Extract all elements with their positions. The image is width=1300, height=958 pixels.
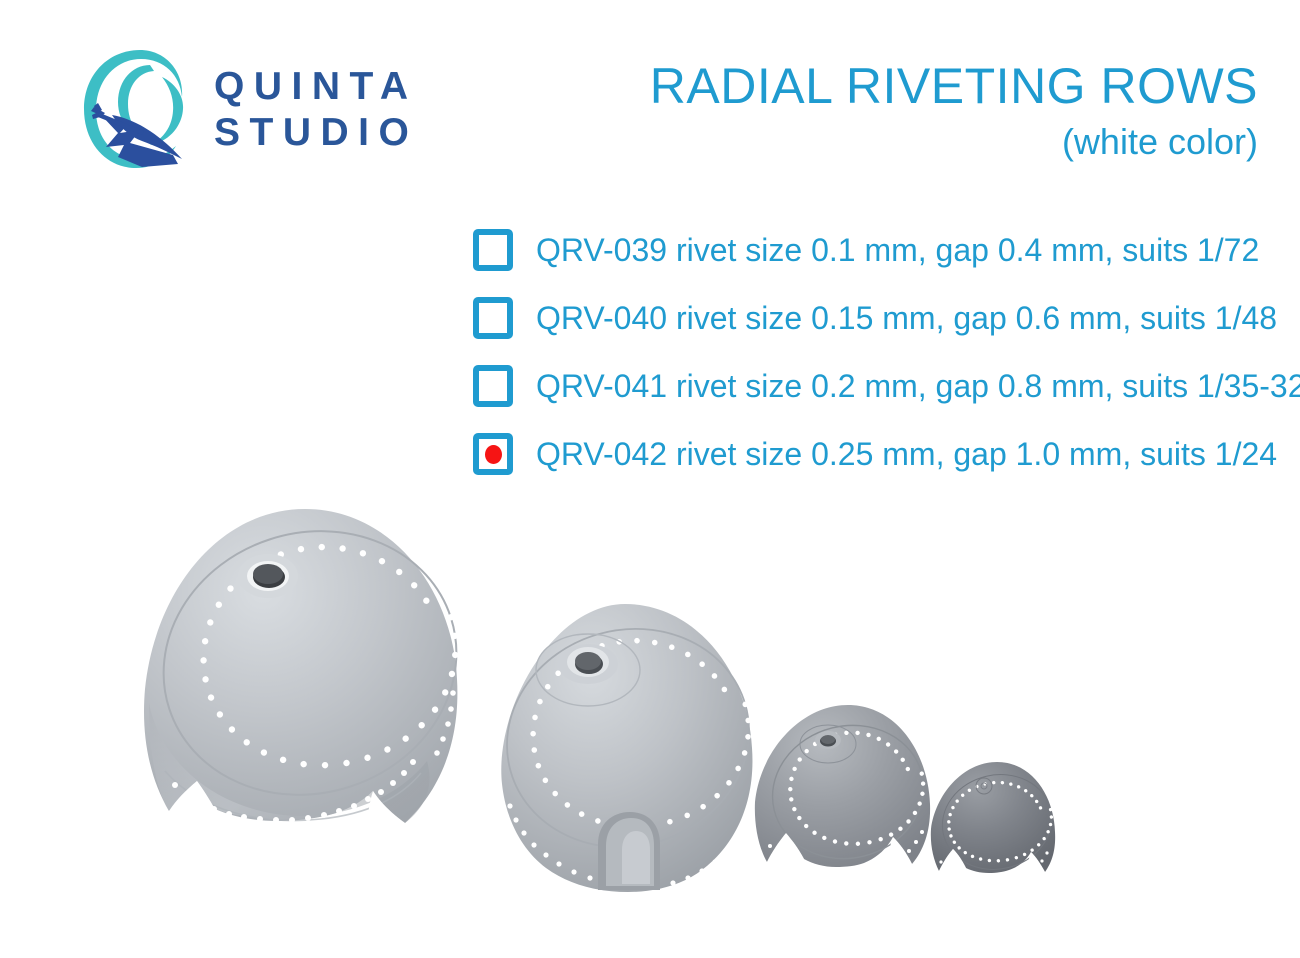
page-subtitle: (white color) <box>650 121 1258 162</box>
variant-list: QRV-039 rivet size 0.1 mm, gap 0.4 mm, s… <box>473 216 1283 488</box>
variant-checkbox-qrv-040[interactable] <box>473 297 513 339</box>
variant-label-qrv-039: QRV-039 rivet size 0.1 mm, gap 0.4 mm, s… <box>536 234 1259 266</box>
brand-name-line-2: STUDIO <box>214 110 418 156</box>
quinta-q-swoosh-jet-logo-icon <box>78 47 196 171</box>
blade-cutout <box>598 812 660 890</box>
product-photo <box>0 455 1300 958</box>
brand-logo: QUINTA STUDIO <box>78 44 478 174</box>
variant-label-qrv-040: QRV-040 rivet size 0.15 mm, gap 0.6 mm, … <box>536 302 1277 334</box>
checkbox-dot <box>485 241 502 260</box>
title-block: RADIAL RIVETING ROWS (white color) <box>650 60 1258 162</box>
variant-row-qrv-041[interactable]: QRV-041 rivet size 0.2 mm, gap 0.8 mm, s… <box>473 352 1283 420</box>
spinner-center-hole <box>815 731 841 749</box>
brand-wordmark: QUINTA STUDIO <box>214 62 418 156</box>
variant-checkbox-qrv-041[interactable] <box>473 365 513 407</box>
propeller-spinner-xsmall <box>922 756 1072 896</box>
checkbox-dot <box>485 309 502 328</box>
spinner-center-hole <box>238 554 298 598</box>
propeller-spinner-large <box>105 503 505 863</box>
spinner-center-hole <box>567 647 609 677</box>
page-title: RADIAL RIVETING ROWS <box>650 60 1258 113</box>
variant-checkbox-qrv-039[interactable] <box>473 229 513 271</box>
variant-row-qrv-040[interactable]: QRV-040 rivet size 0.15 mm, gap 0.6 mm, … <box>473 284 1283 352</box>
variant-label-qrv-041: QRV-041 rivet size 0.2 mm, gap 0.8 mm, s… <box>536 370 1300 402</box>
brand-name-line-1: QUINTA <box>214 64 418 110</box>
variant-row-qrv-039[interactable]: QRV-039 rivet size 0.1 mm, gap 0.4 mm, s… <box>473 216 1283 284</box>
propeller-spinner-medium <box>460 598 790 898</box>
checkbox-dot <box>485 377 502 396</box>
propeller-spinner-small <box>748 700 948 900</box>
page-header: QUINTA STUDIO RADIAL RIVETING ROWS (whit… <box>0 0 1300 195</box>
